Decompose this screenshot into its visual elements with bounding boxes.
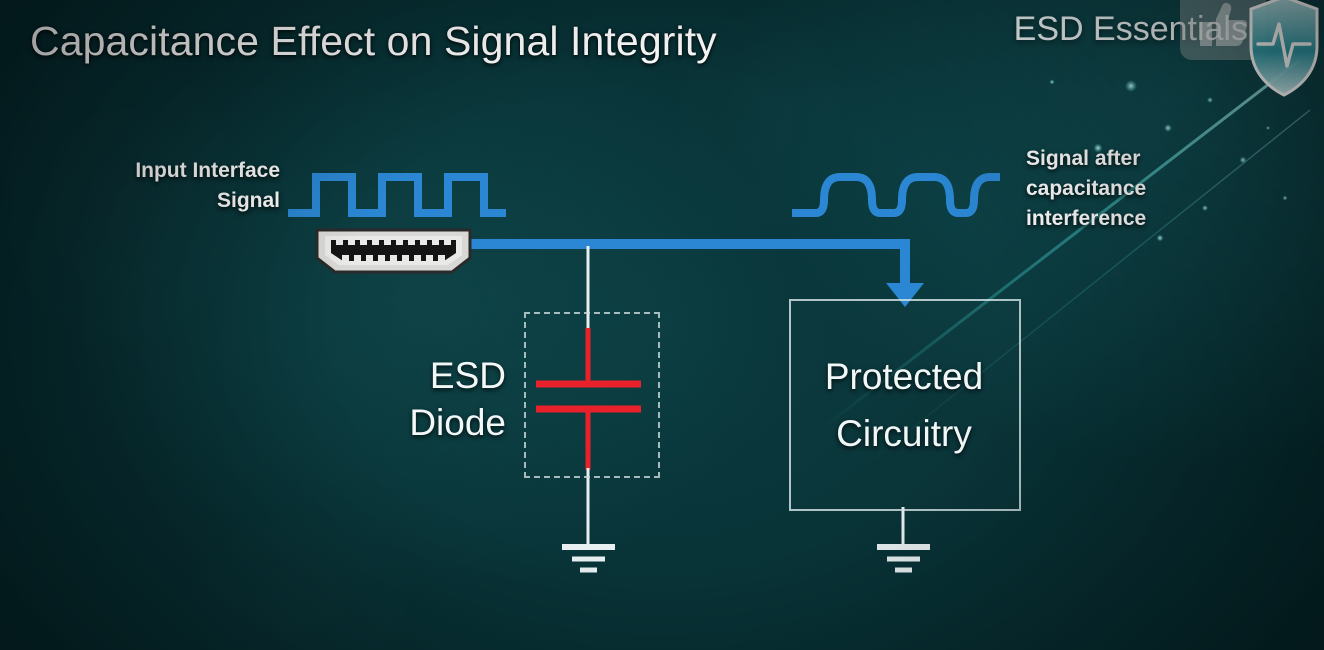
circuit-diagram: [0, 0, 1324, 650]
esd-diode-label-line1: ESD: [386, 352, 506, 399]
esd-diode-boundary: [524, 312, 660, 478]
esd-diode-label: ESD Diode: [386, 352, 506, 447]
ground-symbol-left: [562, 547, 615, 570]
protected-circuitry-label-line1: Protected: [790, 348, 1018, 405]
esd-diode-label-line2: Diode: [386, 399, 506, 446]
protected-circuitry-label: Protected Circuitry: [790, 348, 1018, 463]
hdmi-connector: [317, 230, 470, 272]
protected-circuitry-label-line2: Circuitry: [790, 405, 1018, 462]
input-waveform: [288, 177, 506, 213]
output-waveform: [792, 177, 1000, 213]
ground-symbol-right: [877, 547, 930, 570]
slide-canvas: Capacitance Effect on Signal Integrity E…: [0, 0, 1324, 650]
signal-trace: [470, 244, 905, 287]
